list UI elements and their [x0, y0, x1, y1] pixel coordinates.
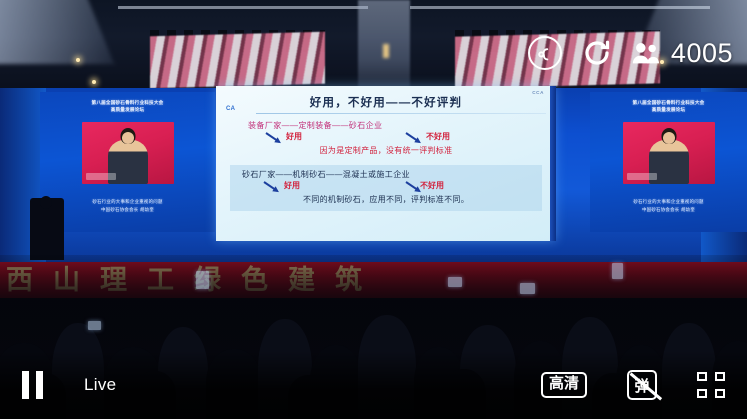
- live-status-label: Live: [84, 375, 116, 395]
- refresh-icon[interactable]: [580, 36, 614, 70]
- fullscreen-corner-tl: [697, 372, 707, 381]
- player-top-controls: 4005: [528, 36, 733, 70]
- fullscreen-icon[interactable]: [697, 372, 725, 398]
- player-bottom-bar: Live 高清 弹: [0, 351, 747, 419]
- fullscreen-corner-bl: [697, 389, 707, 398]
- fullscreen-corner-br: [715, 389, 725, 398]
- player-bottom-right-controls: 高清 弹: [541, 370, 725, 400]
- viewer-count: 4005: [632, 38, 733, 69]
- player-overlay: 4005 Live 高清 弹: [0, 0, 747, 419]
- viewer-count-value: 4005: [671, 38, 733, 69]
- danmaku-toggle-button[interactable]: 弹: [627, 370, 657, 400]
- wechat-miniprogram-icon[interactable]: [528, 36, 562, 70]
- quality-button[interactable]: 高清: [541, 372, 587, 398]
- viewers-icon: [632, 41, 661, 65]
- pause-button[interactable]: [22, 371, 48, 399]
- pause-bar-right: [36, 371, 43, 399]
- pause-bar-left: [22, 371, 29, 399]
- live-video-player[interactable]: 第八届全国砂石骨料行业科技大会 高质量发展论坛 砂石行业的大事和企业重视的问题 …: [0, 0, 747, 419]
- fullscreen-corner-tr: [715, 372, 725, 381]
